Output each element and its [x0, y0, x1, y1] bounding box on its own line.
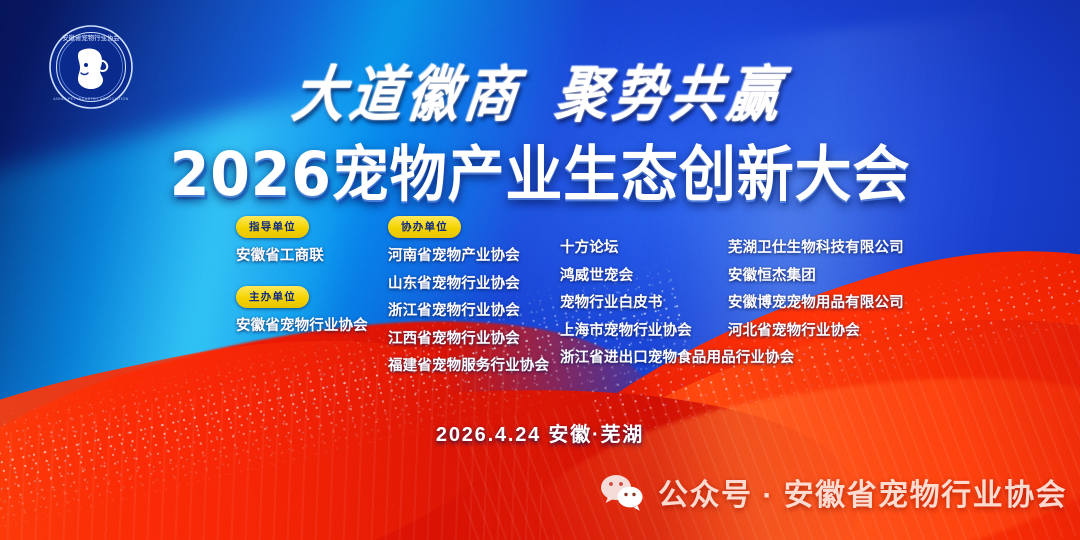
co-organizer-column-1: 协办单位 河南省宠物产业协会 山东省宠物行业协会 浙江省宠物行业协会 江西省宠物… [388, 216, 560, 374]
org-item: 安徽省工商联 [236, 249, 388, 264]
badge-host-unit: 主办单位 [236, 286, 309, 308]
org-item: 福建省宠物服务行业协会 [388, 359, 560, 374]
badge-guiding-unit: 指导单位 [236, 216, 309, 238]
conference-poster: 安徽省宠物行业协会 ANHUI PET INDUSTRY ASSOCIATION… [0, 0, 1080, 540]
org-item: 浙江省宠物行业协会 [388, 304, 560, 319]
co-organizer-column-2: 十方论坛 鸿威世宠会 宠物行业白皮书 上海市宠物行业协会 浙江省进出口宠物食品用… [560, 216, 728, 366]
badge-co-organizer-unit: 协办单位 [388, 216, 461, 238]
wechat-icon [600, 473, 644, 511]
svg-text:安徽省宠物行业协会: 安徽省宠物行业协会 [62, 33, 120, 42]
org-item: 江西省宠物行业协会 [388, 332, 560, 347]
wechat-account-text: 公众号 · 安徽省宠物行业协会 [658, 470, 1067, 514]
org-item: 十方论坛 [560, 241, 728, 256]
org-item: 上海市宠物行业协会 [560, 324, 728, 339]
org-item: 河南省宠物产业协会 [388, 249, 560, 264]
calligraphy-title: 大道徽商聚势共赢 [289, 46, 791, 133]
calligraphy-title-part1: 大道徽商 [289, 60, 527, 131]
svg-text:ANHUI PET INDUSTRY ASSOCIATION: ANHUI PET INDUSTRY ASSOCIATION [53, 97, 128, 101]
date-location: 2026.4.24 安徽·芜湖 [0, 418, 1080, 447]
association-logo: 安徽省宠物行业协会 ANHUI PET INDUSTRY ASSOCIATION [48, 24, 134, 110]
org-item: 安徽省宠物行业协会 [236, 319, 388, 334]
org-item: 鸿威世宠会 [560, 269, 728, 284]
page-title: 2026宠物产业生态创新大会 [0, 145, 1080, 205]
org-item: 山东省宠物行业协会 [388, 277, 560, 292]
organizations-block: 指导单位 安徽省工商联 主办单位 安徽省宠物行业协会 协办单位 河南省宠物产业协… [236, 216, 728, 374]
organizer-column-left: 指导单位 安徽省工商联 主办单位 安徽省宠物行业协会 [236, 216, 388, 333]
title-block: 大道徽商聚势共赢 2026宠物产业生态创新大会 [0, 52, 1080, 204]
calligraphy-title-part2: 聚势共赢 [552, 60, 790, 131]
org-item: 宠物行业白皮书 [560, 296, 728, 311]
wechat-footer: 公众号 · 安徽省宠物行业协会 [600, 470, 1067, 514]
org-item: 浙江省进出口宠物食品用品行业协会 [560, 351, 728, 366]
